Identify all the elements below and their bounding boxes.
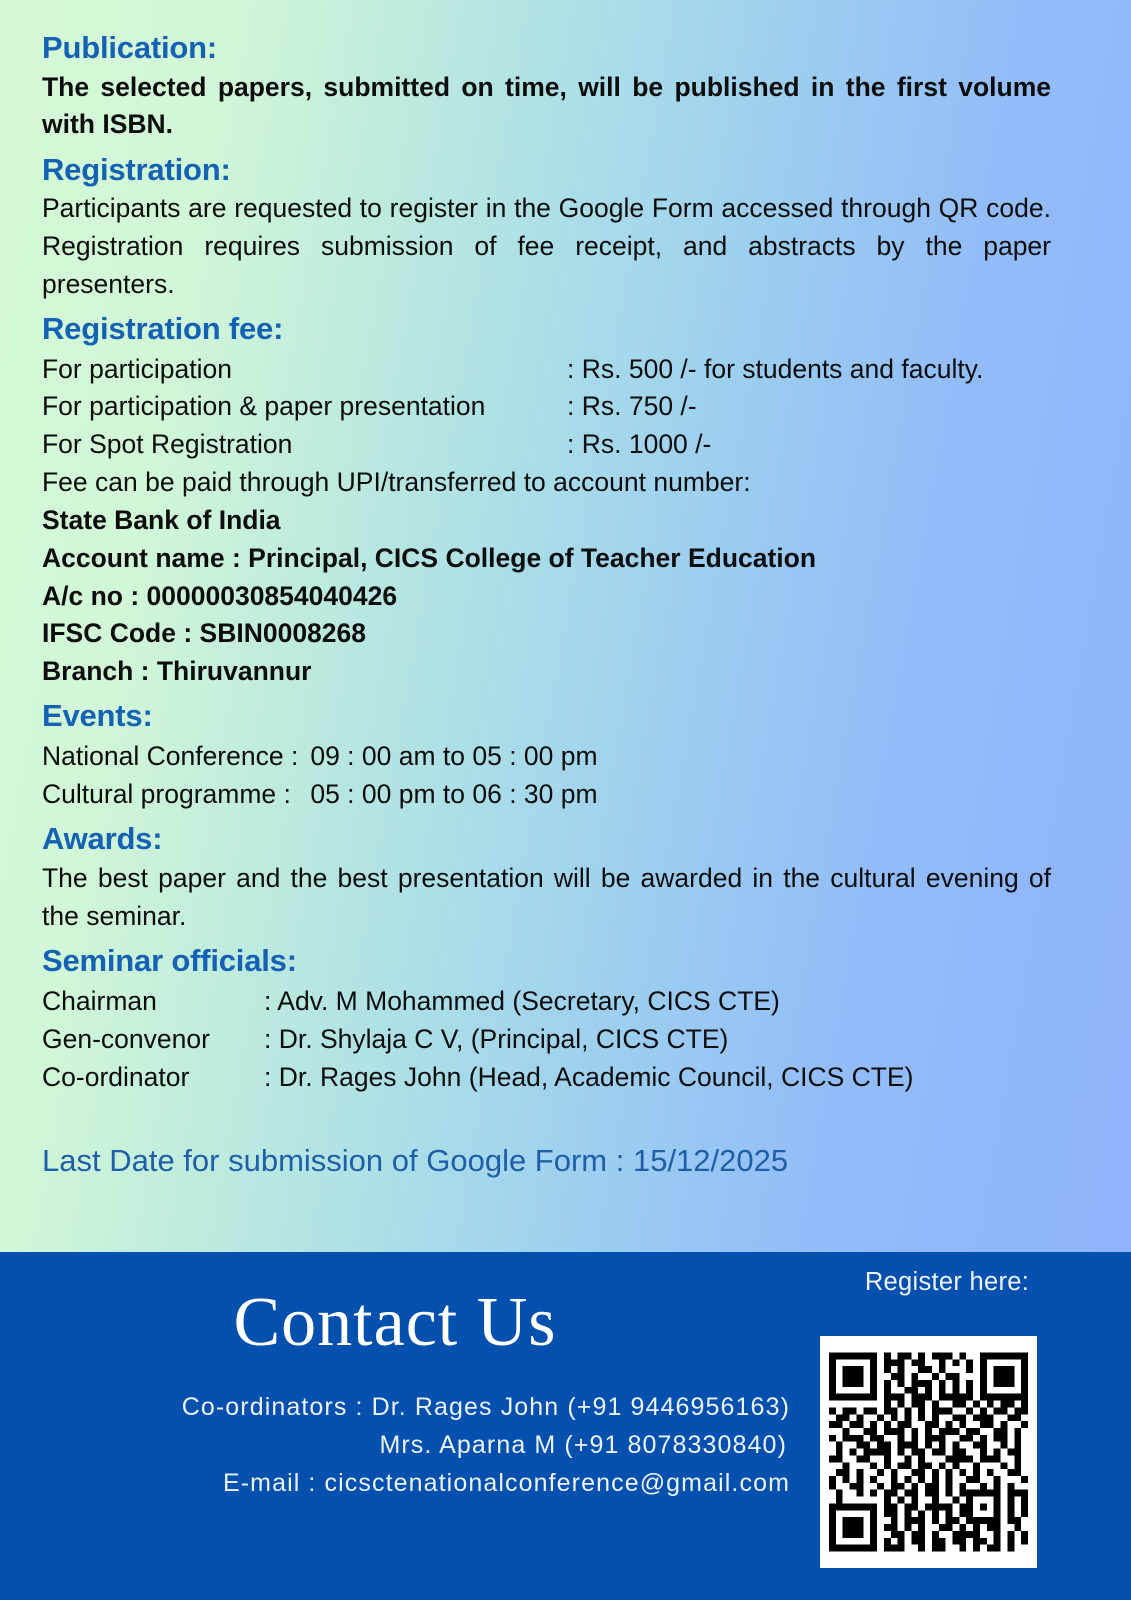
official-role: Gen-convenor [42, 1020, 264, 1058]
bank-account-number: A/c no : 00000030854040426 [42, 578, 1051, 616]
brochure-content: Publication: The selected papers, submit… [0, 0, 1131, 1252]
registration-text: Participants are requested to register i… [42, 190, 1051, 303]
official-person: : Dr. Shylaja C V, (Principal, CICS CTE) [264, 1020, 914, 1058]
footer-contact-bar: Contact Us Co-ordinators : Dr. Rages Joh… [0, 1252, 1131, 1600]
official-role: Co-ordinator [42, 1058, 264, 1096]
awards-text: The best paper and the best presentation… [42, 860, 1051, 935]
registration-fee-table: For participation : Rs. 500 /- for stude… [42, 351, 983, 464]
section-heading-awards: Awards: [42, 821, 1051, 858]
seminar-officials-table: Chairman : Adv. M Mohammed (Secretary, C… [42, 982, 914, 1096]
fee-value: : Rs. 750 /- [567, 388, 983, 426]
table-row: For Spot Registration : Rs. 1000 /- [42, 426, 983, 464]
table-row: National Conference : 09 : 00 am to 05 :… [42, 737, 598, 775]
section-heading-events: Events: [42, 698, 1051, 735]
last-date-notice: Last Date for submission of Google Form … [42, 1142, 1051, 1179]
contact-details: Co-ordinators : Dr. Rages John (+91 9446… [30, 1388, 790, 1502]
fee-label: For participation [42, 351, 567, 389]
fee-value: : Rs. 500 /- for students and faculty. [567, 351, 983, 389]
fee-value: : Rs. 1000 /- [567, 426, 983, 464]
bank-ifsc-code: IFSC Code : SBIN0008268 [42, 615, 1051, 653]
fee-label: For participation & paper presentation [42, 388, 567, 426]
table-row: Cultural programme : 05 : 00 pm to 06 : … [42, 775, 598, 813]
publication-text: The selected papers, submitted on time, … [42, 69, 1051, 144]
bank-name: State Bank of India [42, 502, 1051, 540]
coordinator-line-1: Co-ordinators : Dr. Rages John (+91 9446… [30, 1388, 790, 1426]
email-line: E-mail : cicsctenationalconference@gmail… [30, 1464, 790, 1502]
section-heading-seminar-officials: Seminar officials: [42, 943, 1051, 980]
events-table: National Conference : 09 : 00 am to 05 :… [42, 737, 598, 813]
register-here-label: Register here: [817, 1268, 1077, 1297]
bank-branch: Branch : Thiruvannur [42, 653, 1051, 691]
official-person: : Dr. Rages John (Head, Academic Council… [264, 1058, 914, 1096]
coordinator-line-2: Mrs. Aparna M (+91 8078330840) [30, 1426, 790, 1464]
table-row: For participation & paper presentation :… [42, 388, 983, 426]
event-label: National Conference : [42, 737, 310, 775]
fee-label: For Spot Registration [42, 426, 567, 464]
table-row: Chairman : Adv. M Mohammed (Secretary, C… [42, 982, 914, 1020]
official-role: Chairman [42, 982, 264, 1020]
table-row: Gen-convenor : Dr. Shylaja C V, (Princip… [42, 1020, 914, 1058]
qr-code-svg [829, 1347, 1028, 1557]
contact-us-title: Contact Us [0, 1288, 790, 1358]
event-label: Cultural programme : [42, 775, 310, 813]
official-person: : Adv. M Mohammed (Secretary, CICS CTE) [264, 982, 914, 1020]
qr-code-icon[interactable] [820, 1336, 1037, 1568]
section-heading-registration: Registration: [42, 152, 1051, 189]
section-heading-registration-fee: Registration fee: [42, 311, 1051, 348]
section-heading-publication: Publication: [42, 30, 1051, 67]
table-row: Co-ordinator : Dr. Rages John (Head, Aca… [42, 1058, 914, 1096]
event-time: 05 : 00 pm to 06 : 30 pm [310, 775, 597, 813]
event-time: 09 : 00 am to 05 : 00 pm [310, 737, 597, 775]
table-row: For participation : Rs. 500 /- for stude… [42, 351, 983, 389]
payment-note: Fee can be paid through UPI/transferred … [42, 464, 1051, 502]
conference-brochure-page: Publication: The selected papers, submit… [0, 0, 1131, 1600]
bank-account-name: Account name : Principal, CICS College o… [42, 540, 1051, 578]
